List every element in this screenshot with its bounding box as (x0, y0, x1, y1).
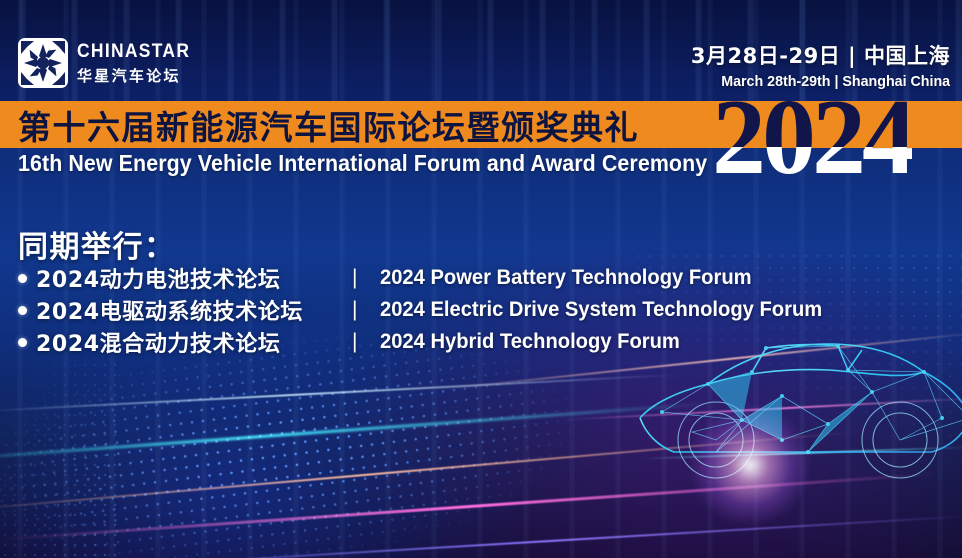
background-dot-grid-left (0, 360, 120, 558)
list-item: 2024动力电池技术论坛 | 2024 Power Battery Techno… (18, 264, 838, 292)
separator: | (352, 298, 357, 322)
event-title-en: 16th New Energy Vehicle International Fo… (18, 150, 707, 177)
forum-name-en: 2024 Hybrid Technology Forum (380, 330, 680, 354)
separator: | (352, 266, 357, 290)
event-poster: CHINASTAR 华星汽车论坛 3月28日-29日 | 中国上海 March … (0, 0, 962, 558)
bullet-icon (18, 306, 27, 315)
list-item: 2024混合动力技术论坛 | 2024 Hybrid Technology Fo… (18, 328, 838, 356)
headlight-glow (690, 405, 810, 525)
brand-name-en: CHINASTAR (77, 41, 190, 63)
event-date-cn: 3月28日-29日 | 中国上海 (691, 40, 950, 70)
concurrent-heading: 同期举行： (18, 222, 176, 266)
bullet-icon (18, 338, 27, 347)
concurrent-forum-list: 2024动力电池技术论坛 | 2024 Power Battery Techno… (18, 264, 838, 356)
separator: | (352, 330, 357, 354)
brand-logo: CHINASTAR 华星汽车论坛 (18, 38, 200, 88)
event-year: 2024 2024 (712, 88, 962, 188)
forum-name-cn: 2024电驱动系统技术论坛 (36, 294, 303, 326)
forum-name-en: 2024 Electric Drive System Technology Fo… (380, 298, 822, 322)
forum-name-cn: 2024混合动力技术论坛 (36, 326, 280, 358)
event-date-location: 3月28日-29日 | 中国上海 March 28th-29th | Shang… (691, 40, 950, 90)
brand-name-cn: 华星汽车论坛 (77, 65, 200, 86)
bullet-icon (18, 274, 27, 283)
forum-name-cn: 2024动力电池技术论坛 (36, 262, 280, 294)
star-burst-logo-icon (18, 38, 68, 88)
event-title-cn: 第十六届新能源汽车国际论坛暨颁奖典礼 (18, 101, 639, 148)
list-item: 2024电驱动系统技术论坛 | 2024 Electric Drive Syst… (18, 296, 838, 324)
forum-name-en: 2024 Power Battery Technology Forum (380, 266, 752, 290)
